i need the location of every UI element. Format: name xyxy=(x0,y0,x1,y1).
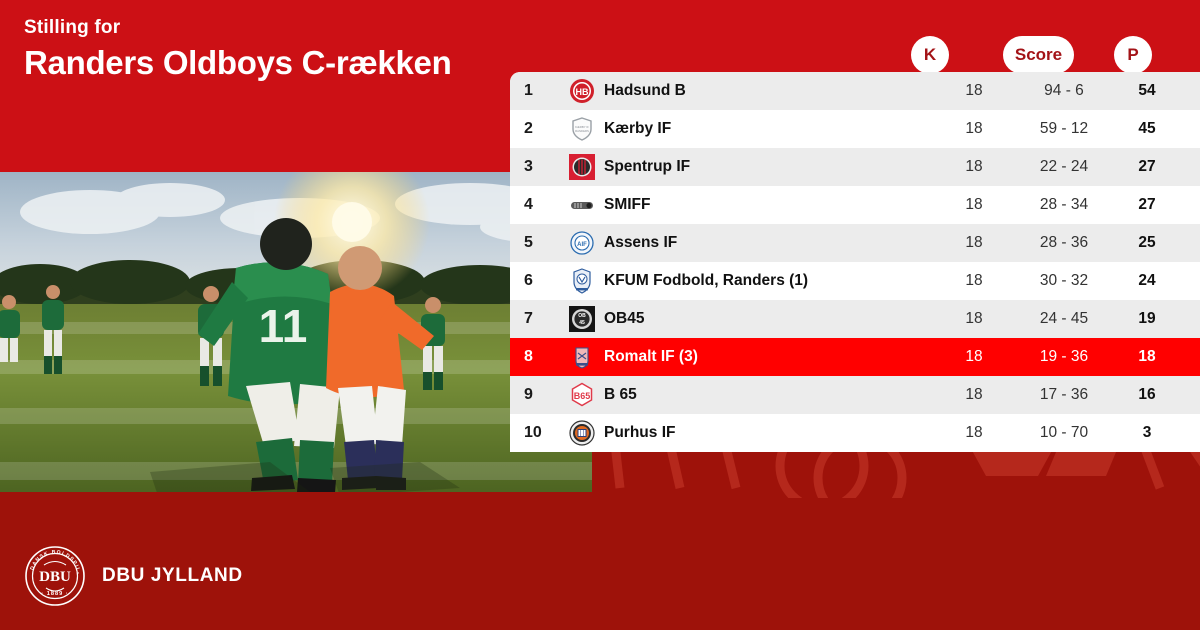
row-points: 27 xyxy=(1116,196,1178,214)
table-row[interactable]: 4SMIFF1828 - 3427 xyxy=(510,186,1200,224)
table-row[interactable]: 3Spentrup IF1822 - 2427 xyxy=(510,148,1200,186)
row-position: 8 xyxy=(510,348,560,366)
row-score: 10 - 70 xyxy=(1012,424,1116,442)
row-matches: 18 xyxy=(936,424,1012,442)
hadsund-b-logo: HB xyxy=(560,78,604,104)
row-points: 3 xyxy=(1116,424,1178,442)
svg-text:11: 11 xyxy=(259,300,308,352)
row-score: 59 - 12 xyxy=(1012,120,1116,138)
row-team-name: Hadsund B xyxy=(604,82,936,100)
row-position: 6 xyxy=(510,272,560,290)
row-team-name: Kærby IF xyxy=(604,120,936,138)
row-position: 10 xyxy=(510,424,560,442)
svg-text:AIF: AIF xyxy=(577,242,587,248)
column-header-score: Score xyxy=(1003,36,1074,74)
row-score: 22 - 24 xyxy=(1012,158,1116,176)
svg-text:DBU: DBU xyxy=(39,569,71,585)
purhus-if-logo xyxy=(560,420,604,446)
row-position: 2 xyxy=(510,120,560,138)
row-points: 16 xyxy=(1116,386,1178,404)
row-matches: 18 xyxy=(936,272,1012,290)
table-row[interactable]: 10Purhus IF1810 - 703 xyxy=(510,414,1200,452)
svg-text:RANDERS: RANDERS xyxy=(575,129,589,133)
table-row[interactable]: 9B65B 651817 - 3616 xyxy=(510,376,1200,414)
row-points: 27 xyxy=(1116,158,1178,176)
row-points: 24 xyxy=(1116,272,1178,290)
footer-brand: DANSK BOLDSPIL-UNION DBU · 1889 · DBU JY… xyxy=(24,545,243,607)
row-score: 17 - 36 xyxy=(1012,386,1116,404)
column-header-matches: K xyxy=(911,36,949,74)
table-row[interactable]: 1HBHadsund B1894 - 654 xyxy=(510,72,1200,110)
smiff-logo xyxy=(560,192,604,218)
row-score: 19 - 36 xyxy=(1012,348,1116,366)
row-points: 18 xyxy=(1116,348,1178,366)
row-position: 5 xyxy=(510,234,560,252)
row-matches: 18 xyxy=(936,310,1012,328)
row-team-name: KFUM Fodbold, Randers (1) xyxy=(604,272,936,290)
row-position: 1 xyxy=(510,82,560,100)
row-position: 3 xyxy=(510,158,560,176)
svg-text:OB: OB xyxy=(578,313,586,319)
table-row[interactable]: 7OB45OB451824 - 4519 xyxy=(510,300,1200,338)
svg-text:B65: B65 xyxy=(574,391,591,401)
row-team-name: Assens IF xyxy=(604,234,936,252)
row-matches: 18 xyxy=(936,348,1012,366)
svg-text:45: 45 xyxy=(579,320,585,326)
assens-if-logo: AIF xyxy=(560,230,604,256)
svg-text:· 1889 ·: · 1889 · xyxy=(41,591,68,597)
row-team-name: Spentrup IF xyxy=(604,158,936,176)
row-team-name: B 65 xyxy=(604,386,936,404)
row-matches: 18 xyxy=(936,82,1012,100)
row-matches: 18 xyxy=(936,120,1012,138)
football-match-photo: 11 xyxy=(0,172,592,492)
row-position: 9 xyxy=(510,386,560,404)
row-score: 94 - 6 xyxy=(1012,82,1116,100)
column-header-points: P xyxy=(1114,36,1152,74)
row-matches: 18 xyxy=(936,196,1012,214)
table-row[interactable]: 5AIFAssens IF1828 - 3625 xyxy=(510,224,1200,262)
row-score: 24 - 45 xyxy=(1012,310,1116,328)
row-points: 45 xyxy=(1116,120,1178,138)
row-matches: 18 xyxy=(936,234,1012,252)
footer-label: DBU JYLLAND xyxy=(102,565,243,587)
svg-text:HB: HB xyxy=(576,87,589,97)
column-header-pills: K Score P xyxy=(0,36,1200,76)
table-row[interactable]: 8Romalt IF (3)1819 - 3618 xyxy=(510,338,1200,376)
row-score: 28 - 36 xyxy=(1012,234,1116,252)
row-team-name: OB45 xyxy=(604,310,936,328)
row-points: 19 xyxy=(1116,310,1178,328)
ob45-logo: OB45 xyxy=(560,306,604,332)
row-points: 54 xyxy=(1116,82,1178,100)
row-score: 28 - 34 xyxy=(1012,196,1116,214)
romalt-if-logo xyxy=(560,344,604,370)
spentrup-if-logo xyxy=(560,154,604,180)
row-team-name: Purhus IF xyxy=(604,424,936,442)
row-team-name: SMIFF xyxy=(604,196,936,214)
row-points: 25 xyxy=(1116,234,1178,252)
kfum-logo xyxy=(560,268,604,294)
table-row[interactable]: 2KÆRBY IFRANDERSKærby IF1859 - 1245 xyxy=(510,110,1200,148)
graphic-canvas: Stilling for Randers Oldboys C-rækken xyxy=(0,0,1200,630)
row-matches: 18 xyxy=(936,386,1012,404)
standings-table: 1HBHadsund B1894 - 6542KÆRBY IFRANDERSKæ… xyxy=(510,72,1200,452)
dbu-seal-logo: DANSK BOLDSPIL-UNION DBU · 1889 · xyxy=(24,545,86,607)
row-team-name: Romalt IF (3) xyxy=(604,348,936,366)
kaerby-if-logo: KÆRBY IFRANDERS xyxy=(560,116,604,142)
row-position: 7 xyxy=(510,310,560,328)
row-score: 30 - 32 xyxy=(1012,272,1116,290)
table-row[interactable]: 6KFUM Fodbold, Randers (1)1830 - 3224 xyxy=(510,262,1200,300)
row-matches: 18 xyxy=(936,158,1012,176)
b65-logo: B65 xyxy=(560,382,604,408)
row-position: 4 xyxy=(510,196,560,214)
